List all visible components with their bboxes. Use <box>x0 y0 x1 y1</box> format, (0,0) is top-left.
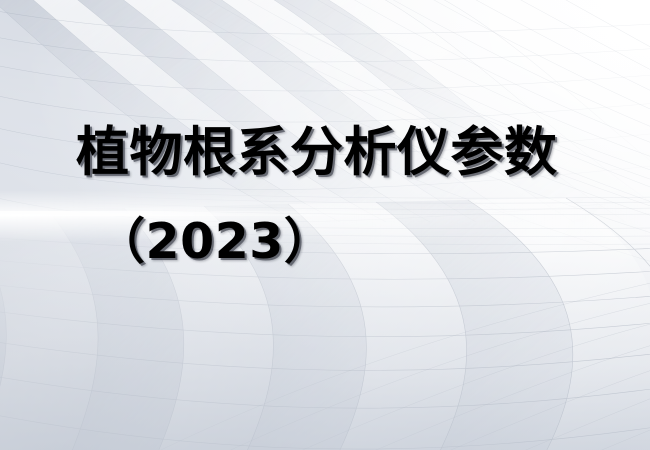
slide-text-block: 植物根系分析仪参数 （2023） <box>0 0 650 450</box>
page-title: 植物根系分析仪参数 <box>76 121 596 185</box>
page-subtitle-year: （2023） <box>96 212 516 272</box>
title-slide: 植物根系分析仪参数 （2023） <box>0 0 650 450</box>
